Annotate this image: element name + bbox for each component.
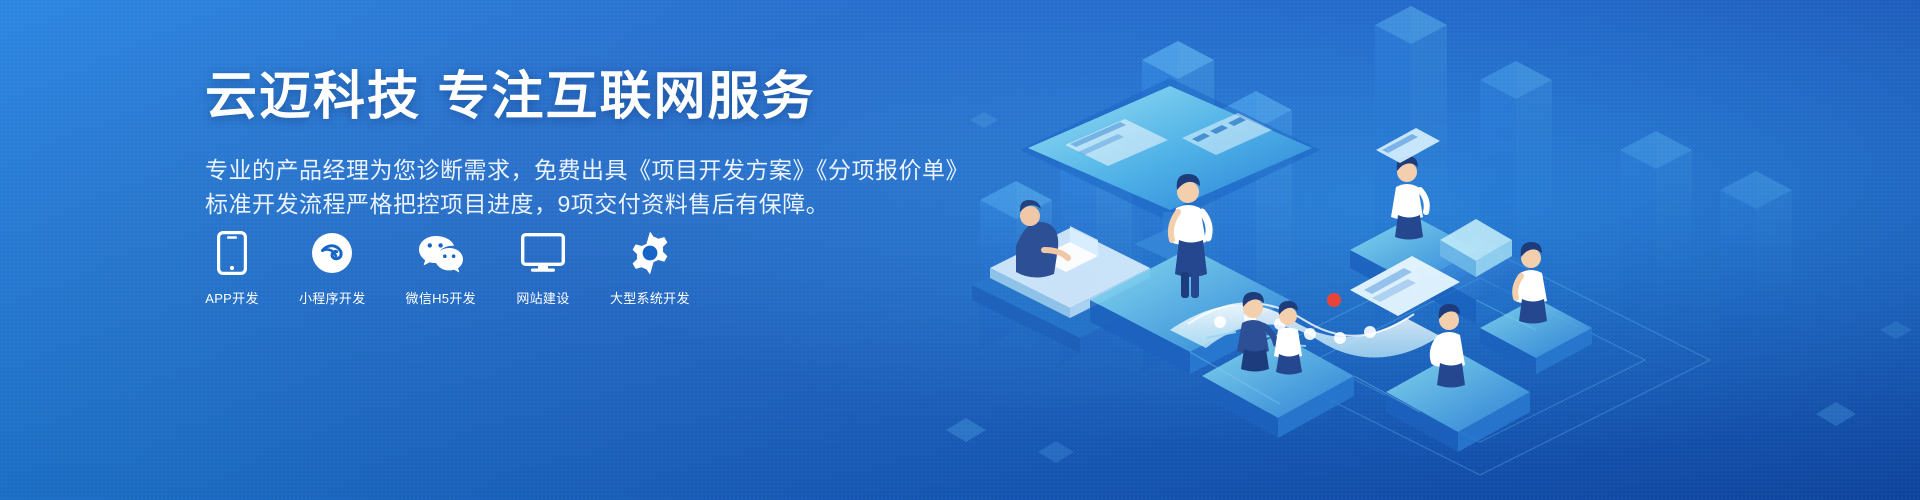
gear-icon [628,230,672,276]
service-label-website: 网站建设 [516,288,569,307]
hero-subtitle-line-1: 专业的产品经理为您诊断需求，免费出具《项目开发方案》《分项报价单》 [205,154,905,187]
mini-program-icon [311,230,353,276]
hero-headline: 云迈科技 专注互联网服务 [205,66,905,128]
service-label-wechat: 微信H5开发 [406,288,476,307]
hero-subtitle: 专业的产品经理为您诊断需求，免费出具《项目开发方案》《分项报价单》 标准开发流程… [205,154,905,221]
service-item-mini-program[interactable]: 小程序开发 [299,230,366,307]
mobile-phone-icon [217,230,247,276]
hero-banner: 云迈科技 专注互联网服务 专业的产品经理为您诊断需求，免费出具《项目开发方案》《… [0,0,1920,500]
service-label-app: APP开发 [205,288,259,307]
isometric-illustration [920,0,1920,500]
wechat-icon [418,230,464,276]
service-label-mini-program: 小程序开发 [299,288,366,307]
hero-copy: 云迈科技 专注互联网服务 专业的产品经理为您诊断需求，免费出具《项目开发方案》《… [205,66,905,221]
service-item-wechat[interactable]: 微信H5开发 [406,230,476,307]
service-list: APP开发 小程序开发 [205,230,690,307]
service-item-system[interactable]: 大型系统开发 [610,230,690,307]
service-item-app[interactable]: APP开发 [205,230,259,307]
service-label-system: 大型系统开发 [610,288,690,307]
monitor-icon [521,230,565,276]
hero-subtitle-line-2: 标准开发流程严格把控项目进度，9项交付资料售后有保障。 [205,188,905,221]
service-item-website[interactable]: 网站建设 [516,230,570,307]
